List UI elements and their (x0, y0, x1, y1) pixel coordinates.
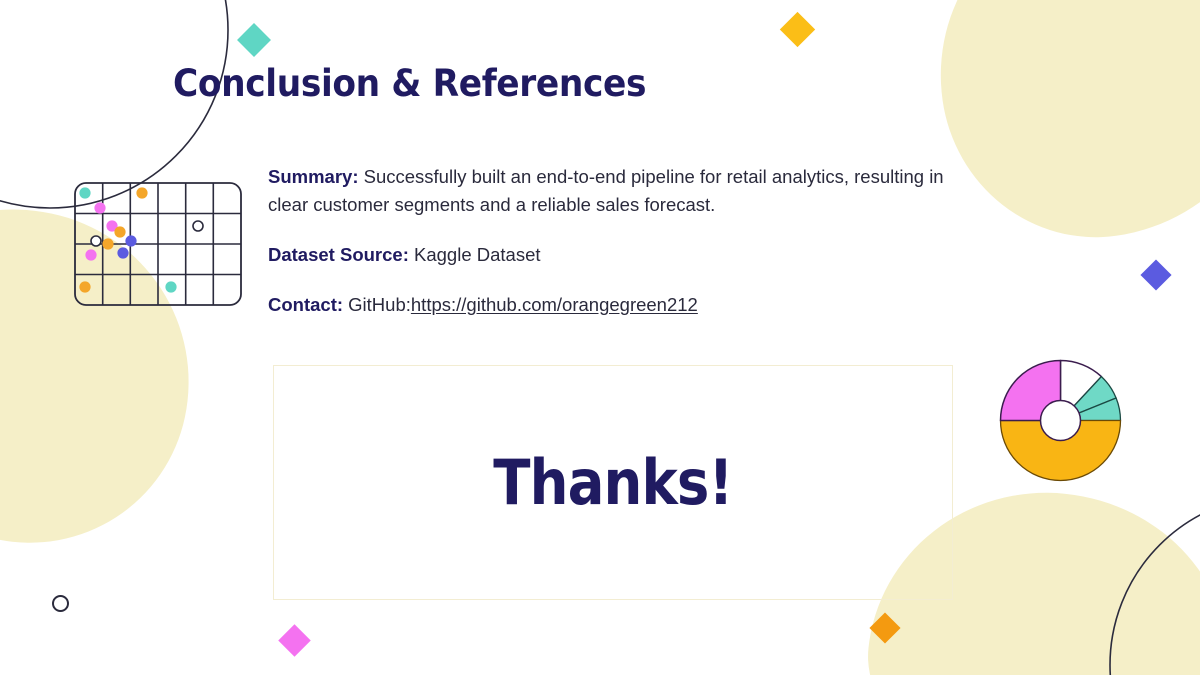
contact-label: Contact: (268, 294, 343, 315)
contact-paragraph: Contact: GitHub:https://github.com/orang… (268, 291, 958, 319)
thanks-box: Thanks! (273, 365, 953, 600)
dataset-paragraph: Dataset Source: Kaggle Dataset (268, 241, 958, 269)
diamond-orange-icon (869, 612, 900, 643)
arc-top-left (0, 0, 230, 210)
dataset-text: Kaggle Dataset (409, 244, 541, 265)
summary-paragraph: Summary: Successfully built an end-to-en… (268, 163, 958, 219)
summary-text: Successfully built an end-to-end pipelin… (268, 166, 944, 215)
diamond-teal-icon (237, 23, 271, 57)
slide-root: Conclusion & References (0, 0, 1200, 675)
ring-outline-icon (52, 595, 69, 612)
blob-top-right (919, 0, 1200, 257)
diamond-amber-icon (780, 12, 815, 47)
github-link[interactable]: https://github.com/orangegreen212 (411, 294, 698, 315)
contact-prefix: GitHub: (343, 294, 411, 315)
scatter-plot-figure (74, 182, 242, 306)
thanks-text: Thanks! (493, 446, 732, 519)
page-title: Conclusion & References (173, 62, 646, 105)
arc-bottom-right (1040, 490, 1200, 675)
summary-label: Summary: (268, 166, 358, 187)
body-copy: Summary: Successfully built an end-to-en… (268, 163, 958, 319)
diamond-pink-icon (278, 624, 311, 657)
diamond-purple-icon (1140, 259, 1171, 290)
donut-chart-figure (998, 358, 1123, 483)
dataset-label: Dataset Source: (268, 244, 409, 265)
